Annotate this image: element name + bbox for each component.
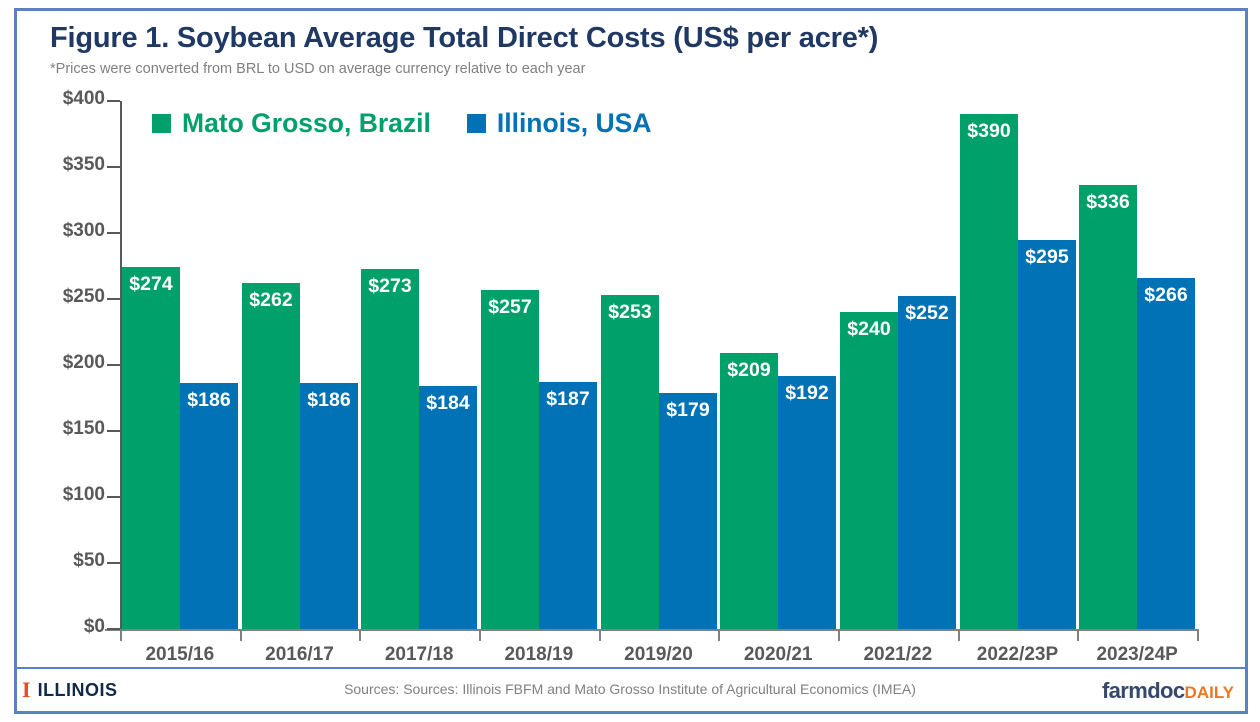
bar-value-label: $186 [300,389,358,412]
y-axis-tick [107,298,120,300]
bar-illinois[interactable]: $295 [1018,240,1076,629]
x-axis-line [105,629,1197,631]
legend-swatch-icon-mato-grosso [152,114,171,133]
bar-illinois[interactable]: $184 [419,386,477,629]
bar-mato-grosso[interactable]: $273 [361,269,419,629]
bar-mato-grosso[interactable]: $262 [242,283,300,629]
legend-swatch-icon-illinois [467,114,486,133]
bar-value-label: $209 [720,359,778,382]
bar-illinois[interactable]: $179 [659,393,717,629]
bar-value-label: $273 [361,275,419,298]
bar-value-label: $187 [539,388,597,411]
bar-value-label: $257 [481,296,539,319]
bar-illinois[interactable]: $186 [180,383,238,629]
bar-value-label: $274 [122,273,180,296]
bar-mato-grosso[interactable]: $253 [601,295,659,629]
y-axis-tick [107,364,120,366]
bar-mato-grosso[interactable]: $209 [720,353,778,629]
footer-divider [17,667,1245,669]
bar-value-label: $179 [659,399,717,422]
y-axis-label: $350 [15,154,105,176]
legend-label-illinois: Illinois, USA [497,108,652,139]
farmdoc-wordmark: farmdoc [1102,678,1185,703]
y-axis-tick [107,232,120,234]
sources-note: Sources: Sources: Illinois FBFM and Mato… [0,681,1260,697]
bar-value-label: $262 [242,289,300,312]
y-axis-label: $300 [15,220,105,242]
bar-mato-grosso[interactable]: $390 [960,114,1018,629]
bar-value-label: $192 [778,382,836,405]
y-axis-label: $50 [15,550,105,572]
bar-mato-grosso[interactable]: $274 [122,267,180,629]
bar-mato-grosso[interactable]: $336 [1079,185,1137,629]
legend-item-mato-grosso[interactable]: Mato Grosso, Brazil [152,108,431,139]
x-axis-label: 2019/20 [599,644,719,666]
bar-illinois[interactable]: $252 [898,296,956,629]
x-axis-tick [1197,629,1199,641]
y-axis-tick [107,166,120,168]
x-axis-label: 2022/23P [958,644,1078,666]
chart-legend: Mato Grosso, Brazil Illinois, USA [152,108,651,139]
farmdoc-daily-wordmark: DAILY [1185,683,1234,702]
bar-illinois[interactable]: $266 [1137,278,1195,629]
y-axis-label: $400 [15,88,105,110]
x-axis-label: 2017/18 [359,644,479,666]
x-axis-label: 2015/16 [120,644,240,666]
x-axis-tick [1077,629,1079,641]
x-axis-tick [479,629,481,641]
x-axis-label: 2021/22 [838,644,958,666]
y-axis-tick [107,100,120,102]
y-axis-tick [107,628,120,630]
x-axis-tick [599,629,601,641]
x-axis-label: 2018/19 [479,644,599,666]
x-axis-tick [718,629,720,641]
y-axis-label: $200 [15,352,105,374]
bar-value-label: $295 [1018,246,1076,269]
legend-label-mato-grosso: Mato Grosso, Brazil [182,108,431,139]
y-axis-tick [107,496,120,498]
farmdoc-daily-logo: farmdocDAILY [1102,678,1234,704]
x-axis-tick [838,629,840,641]
bar-value-label: $266 [1137,284,1195,307]
x-axis-tick [359,629,361,641]
chart-page: Figure 1. Soybean Average Total Direct C… [0,0,1260,722]
y-axis-label: $0 [15,616,105,638]
y-axis-label: $100 [15,484,105,506]
bar-value-label: $186 [180,389,238,412]
bar-value-label: $390 [960,120,1018,143]
x-axis-tick [120,629,122,641]
x-axis-label: 2023/24P [1077,644,1197,666]
y-axis-tick [107,562,120,564]
legend-item-illinois[interactable]: Illinois, USA [467,108,652,139]
x-axis-label: 2020/21 [718,644,838,666]
bar-illinois[interactable]: $187 [539,382,597,629]
bar-illinois[interactable]: $186 [300,383,358,629]
bar-value-label: $336 [1079,191,1137,214]
y-axis-label: $150 [15,418,105,440]
y-axis-label: $250 [15,286,105,308]
bar-illinois[interactable]: $192 [778,376,836,629]
bar-value-label: $252 [898,302,956,325]
bar-mato-grosso[interactable]: $240 [840,312,898,629]
bar-value-label: $240 [840,318,898,341]
x-axis-tick [958,629,960,641]
bar-value-label: $184 [419,392,477,415]
y-axis-tick [107,430,120,432]
bar-mato-grosso[interactable]: $257 [481,290,539,629]
bar-value-label: $253 [601,301,659,324]
x-axis-label: 2016/17 [240,644,360,666]
x-axis-tick [240,629,242,641]
